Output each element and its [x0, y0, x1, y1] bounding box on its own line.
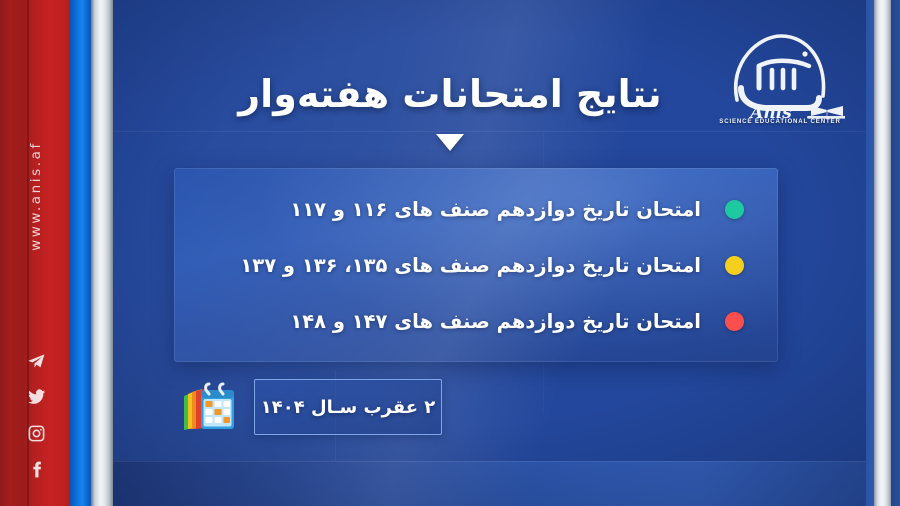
- background-seam-top: [113, 131, 866, 132]
- page-title: نتایج امتحانات هفته‌وار: [238, 74, 661, 116]
- date-label: ۲ عقرب سـال ۱۴۰۴: [261, 397, 436, 418]
- telegram-icon[interactable]: [27, 352, 46, 371]
- right-outer-blue-band: [891, 0, 900, 506]
- status-dot-green: [725, 200, 744, 219]
- results-panel: امتحان تاریخ دوازدهم صنف های ۱۱۶ و ۱۱۷ ا…: [174, 168, 778, 362]
- status-dot-yellow: [725, 256, 744, 275]
- list-item-label: امتحان تاریخ دوازدهم صنف های ۱۳۵، ۱۳۶ و …: [240, 254, 701, 277]
- left-edge-bands: www.anis.af: [0, 0, 113, 506]
- right-silver-band: [874, 0, 892, 506]
- blue-band: [69, 0, 93, 506]
- logo-tagline: SCIENCE EDUCATIONAL CENTER: [715, 118, 845, 125]
- calendar-icon: [178, 378, 240, 436]
- website-url[interactable]: www.anis.af: [28, 141, 44, 251]
- list-item[interactable]: امتحان تاریخ دوازدهم صنف های ۱۳۵، ۱۳۶ و …: [174, 237, 744, 293]
- right-edge-bands: [866, 0, 900, 506]
- instagram-icon[interactable]: [27, 424, 46, 443]
- slide-canvas: Anis SCIENCE EDUCATIONAL CENTER نتایج ام…: [0, 0, 900, 506]
- list-item[interactable]: امتحان تاریخ دوازدهم صنف های ۱۱۶ و ۱۱۷: [174, 181, 744, 237]
- list-item[interactable]: امتحان تاریخ دوازدهم صنف های ۱۴۷ و ۱۴۸: [174, 293, 744, 349]
- results-list: امتحان تاریخ دوازدهم صنف های ۱۱۶ و ۱۱۷ ا…: [174, 168, 778, 362]
- list-item-label: امتحان تاریخ دوازدهم صنف های ۱۱۶ و ۱۱۷: [290, 198, 701, 221]
- date-badge: ۲ عقرب سـال ۱۴۰۴: [254, 379, 442, 435]
- bottom-strip: [113, 461, 866, 506]
- social-icons: [0, 352, 72, 479]
- silver-band: [91, 0, 113, 506]
- status-dot-red: [725, 312, 744, 331]
- triangle-down-icon: [436, 134, 464, 151]
- twitter-icon[interactable]: [27, 388, 46, 407]
- facebook-icon[interactable]: [27, 460, 46, 479]
- social-rail: www.anis.af: [0, 0, 72, 506]
- list-item-label: امتحان تاریخ دوازدهم صنف های ۱۴۷ و ۱۴۸: [290, 310, 701, 333]
- anis-logo: Anis SCIENCE EDUCATIONAL CENTER: [715, 26, 845, 126]
- date-area: ۲ عقرب سـال ۱۴۰۴: [178, 378, 442, 436]
